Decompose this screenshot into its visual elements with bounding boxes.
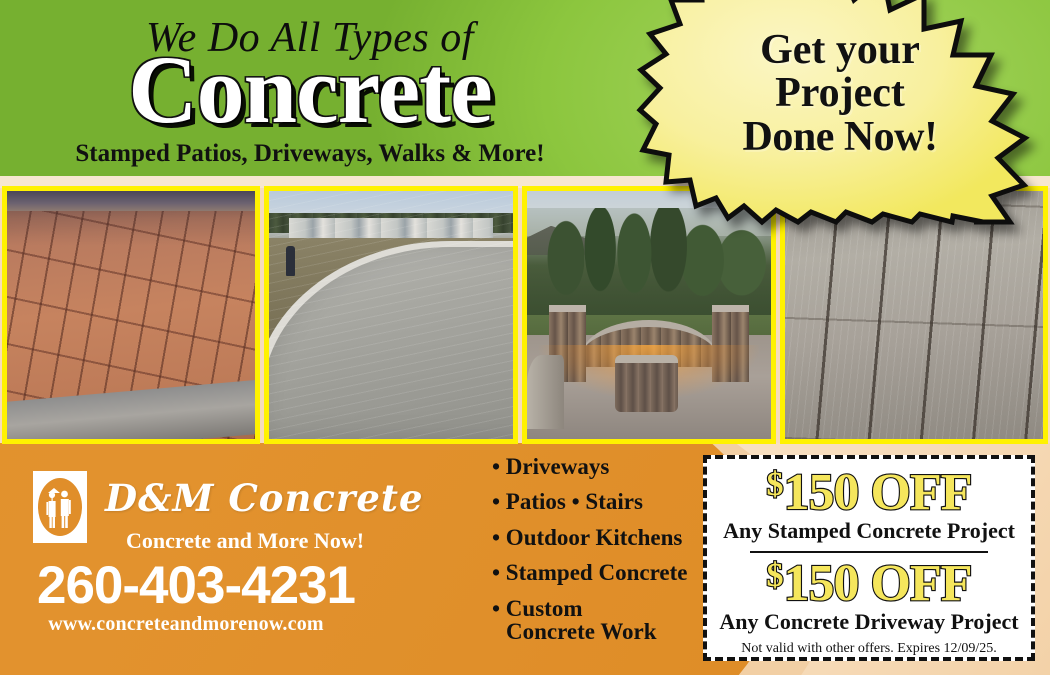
concrete-advertisement: We Do All Types of Concrete Stamped Pati… bbox=[0, 0, 1050, 675]
company-phone[interactable]: 260-403-4231 bbox=[26, 555, 366, 616]
coupon-box[interactable]: $150 OFF Any Stamped Concrete Project $1… bbox=[703, 455, 1035, 661]
photo-wood-plank-stamped-concrete bbox=[780, 186, 1048, 444]
list-item: • Outdoor Kitchens bbox=[492, 526, 702, 549]
coupon-offer-1-desc: Any Stamped Concrete Project bbox=[717, 518, 1021, 544]
list-item: • Driveways bbox=[492, 455, 702, 478]
header-text-group: We Do All Types of Concrete Stamped Pati… bbox=[0, 0, 660, 176]
photo-stamped-brick-patio bbox=[2, 186, 260, 444]
coupon-disclaimer: Not valid with other offers. Expires 12/… bbox=[717, 641, 1021, 657]
list-item: • Custom Concrete Work bbox=[492, 597, 702, 644]
header-subline: Stamped Patios, Driveways, Walks & More! bbox=[0, 140, 620, 168]
starburst-badge bbox=[640, 0, 1040, 222]
photo-strip bbox=[0, 186, 1050, 444]
photo-concrete-driveway bbox=[264, 186, 518, 444]
company-block: D&M Concrete Concrete and More Now! 260-… bbox=[0, 443, 470, 675]
bottom-section: D&M Concrete Concrete and More Now! 260-… bbox=[0, 443, 1050, 675]
list-item: • Stamped Concrete bbox=[492, 561, 702, 584]
company-website[interactable]: www.concreteandmorenow.com bbox=[26, 613, 346, 636]
list-item: • Patios • Stairs bbox=[492, 490, 702, 513]
coupon-amount-1: 150 OFF bbox=[784, 464, 972, 521]
page-title: Concrete bbox=[0, 42, 620, 138]
company-name: D&M Concrete bbox=[105, 476, 424, 520]
photo-patio-firepit bbox=[522, 186, 776, 444]
services-list: • Driveways • Patios • Stairs • Outdoor … bbox=[492, 455, 702, 656]
company-tagline: Concrete and More Now! bbox=[110, 528, 380, 554]
coupon-currency-2: $ bbox=[767, 557, 783, 594]
coupon-offer-2-amount: $150 OFF bbox=[717, 558, 1021, 610]
coupon-offer-1-amount: $150 OFF bbox=[717, 467, 1021, 519]
coupon-offer-2-desc: Any Concrete Driveway Project bbox=[717, 609, 1021, 635]
coupon-amount-2: 150 OFF bbox=[784, 555, 972, 612]
coupon-divider bbox=[750, 551, 987, 553]
company-logo-icon bbox=[33, 471, 87, 543]
coupon-currency-1: $ bbox=[767, 466, 783, 503]
